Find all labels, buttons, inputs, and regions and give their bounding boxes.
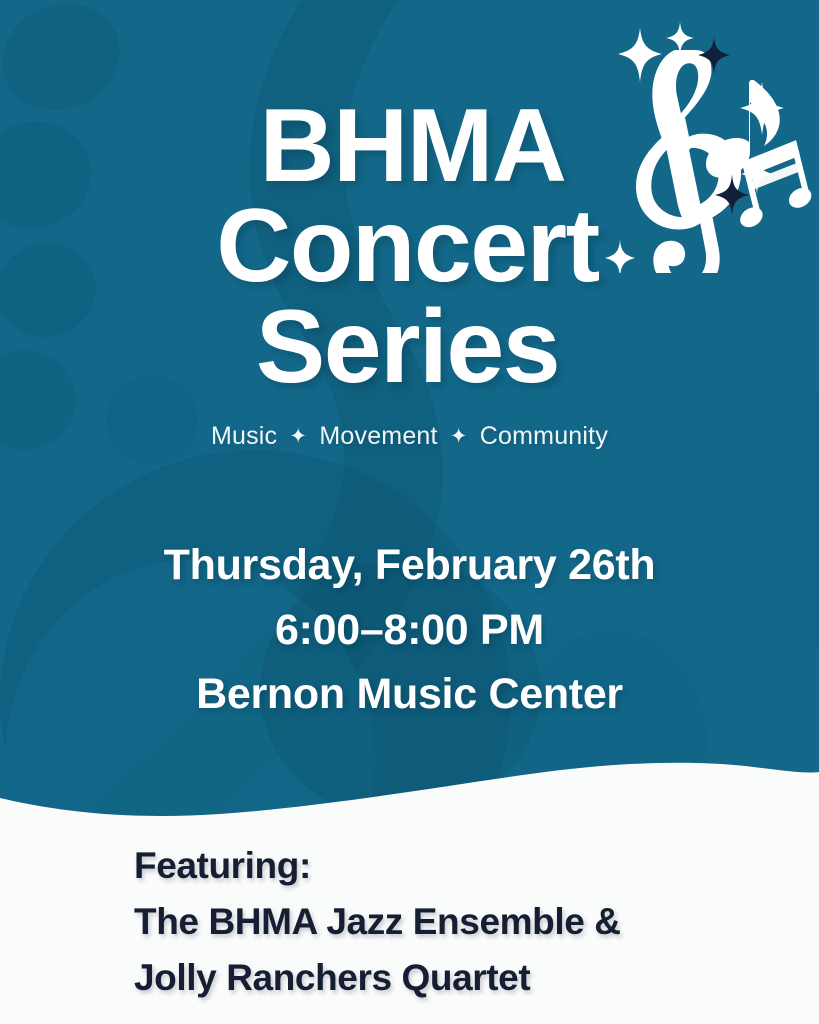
tagline: Music ✦ Movement ✦ Community xyxy=(0,422,819,451)
four-pointed-star-icon: ✦ xyxy=(450,424,468,449)
tagline-word-movement: Movement xyxy=(319,422,437,450)
event-time: 6:00–8:00 PM xyxy=(0,598,819,663)
tagline-word-community: Community xyxy=(480,422,608,450)
featuring-label: Featuring: xyxy=(134,838,734,894)
poster-header: BHMA Concert Series Music ✦ Movement ✦ C… xyxy=(0,96,819,451)
featuring-act-1: The BHMA Jazz Ensemble & xyxy=(134,894,734,950)
event-date: Thursday, February 26th xyxy=(0,533,819,598)
sparkle-star-icon xyxy=(666,22,694,55)
headline-line-2: Concert xyxy=(0,196,819,296)
four-pointed-star-icon: ✦ xyxy=(289,424,307,449)
headline-line-3: Series xyxy=(0,297,819,397)
featuring-act-2: Jolly Ranchers Quartet xyxy=(134,950,734,1006)
concert-poster: BHMA Concert Series Music ✦ Movement ✦ C… xyxy=(0,0,819,1024)
event-venue: Bernon Music Center xyxy=(0,662,819,727)
sparkle-star-icon xyxy=(618,28,662,82)
tagline-word-music: Music xyxy=(211,422,277,450)
event-details: Thursday, February 26th 6:00–8:00 PM Ber… xyxy=(0,533,819,727)
featuring-section: Featuring: The BHMA Jazz Ensemble & Joll… xyxy=(134,838,734,1007)
headline-line-1: BHMA xyxy=(6,96,819,196)
sparkle-star-icon xyxy=(698,36,730,75)
